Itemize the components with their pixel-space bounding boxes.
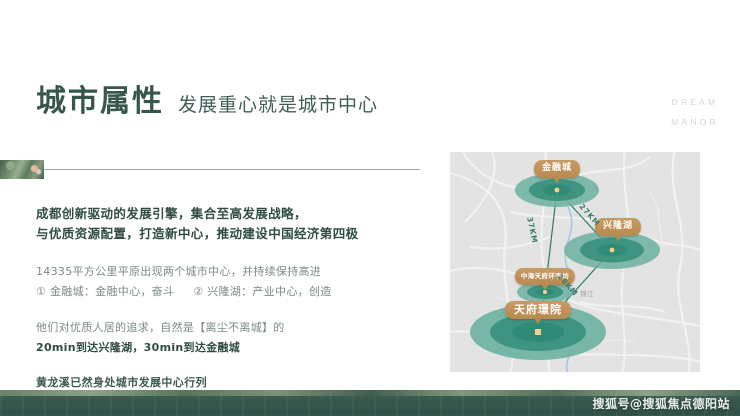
paragraph-one-line-1: 14335平方公里平原出现两个城市中心，并持续保持高进	[36, 262, 436, 282]
location-map: 金融城 兴隆湖 中海天府环宇坊 天府璟院 37KM 27KM 28KM 锦江	[450, 152, 700, 372]
lead-paragraph: 成都创新驱动的发展引擎，集合至高发展战略， 与优质资源配置，打造新中心，推动建设…	[36, 204, 436, 244]
page-title-sub: 发展重心就是城市中心	[178, 90, 378, 117]
page-title: 城市属性 发展重心就是城市中心	[36, 76, 378, 120]
paragraph-two-line-1: 他们对优质人居的追求，自然是【离尘不离城】的	[36, 318, 436, 338]
brand-mark: DREAM MANOR	[660, 92, 730, 132]
page-title-main: 城市属性	[36, 76, 164, 120]
map-graphics	[450, 152, 700, 372]
paragraph-one: 14335平方公里平原出现两个城市中心，并持续保持高进 ① 金融城：金融中心，奋…	[36, 262, 436, 302]
brand-line-2: MANOR	[660, 112, 730, 132]
bottom-decorative-band: 搜狐号@搜狐焦点德阳站	[0, 390, 740, 416]
paragraph-two: 他们对优质人居的追求，自然是【离尘不离城】的 20min到达兴隆湖，30min到…	[36, 318, 436, 358]
horizontal-divider	[44, 169, 420, 170]
list-item-1-text: 金融城：金融中心，奋斗	[50, 285, 174, 298]
list-marker-2: ②	[193, 285, 203, 298]
watermark-text: 搜狐号@搜狐焦点德阳站	[592, 395, 730, 412]
paragraph-one-line-2: ① 金融城：金融中心，奋斗 ② 兴隆湖：产业中心，创造	[36, 282, 436, 302]
paragraph-two-line-2: 20min到达兴隆湖，30min到达金融城	[36, 338, 436, 358]
list-marker-1: ①	[36, 285, 46, 298]
closing-note: 黄龙溪已然身处城市发展中心行列	[36, 374, 436, 390]
lead-line-2: 与优质资源配置，打造新中心，推动建设中国经济第四极	[36, 224, 436, 244]
closing-note-text: 黄龙溪已然身处城市发展中心行列	[36, 374, 436, 390]
decorative-image-strip	[0, 160, 44, 179]
body-copy: 成都创新驱动的发展引擎，集合至高发展战略， 与优质资源配置，打造新中心，推动建设…	[36, 204, 436, 390]
list-item-2-text: 兴隆湖：产业中心，创造	[207, 285, 331, 298]
brand-line-1: DREAM	[660, 92, 730, 112]
map-pin-jinrongcheng[interactable]: 金融城	[534, 160, 580, 178]
map-pin-xinglonghu[interactable]: 兴隆湖	[595, 218, 641, 236]
map-pin-tianfujingyuan[interactable]: 天府璟院	[505, 301, 571, 319]
map-node-rings	[470, 173, 660, 360]
lead-line-1: 成都创新驱动的发展引擎，集合至高发展战略，	[36, 204, 436, 224]
river-label: 锦江	[580, 288, 594, 298]
